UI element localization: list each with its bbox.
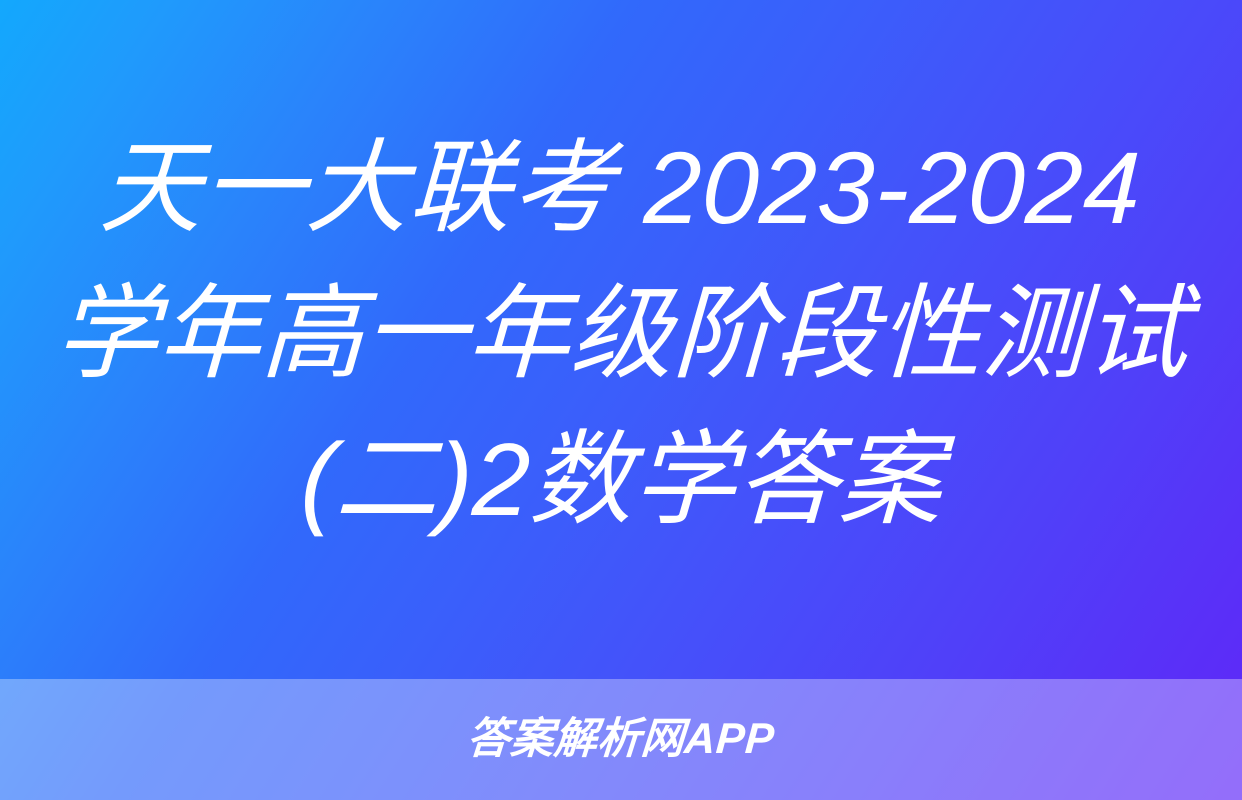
title-line-1: 天一大联考 2023-2024 (98, 115, 1144, 261)
title-block: 天一大联考 2023-2024 学年高一年级阶段性测试 (二)2数学答案 (0, 0, 1242, 679)
poster-banner: 天一大联考 2023-2024 学年高一年级阶段性测试 (二)2数学答案 答案解… (0, 0, 1242, 800)
app-brand-label: 答案解析网APP (466, 718, 776, 761)
title-line-3: (二)2数学答案 (298, 407, 944, 553)
title-line-2: 学年高一年级阶段性测试 (52, 261, 1190, 407)
footer-band: 答案解析网APP (0, 679, 1242, 800)
